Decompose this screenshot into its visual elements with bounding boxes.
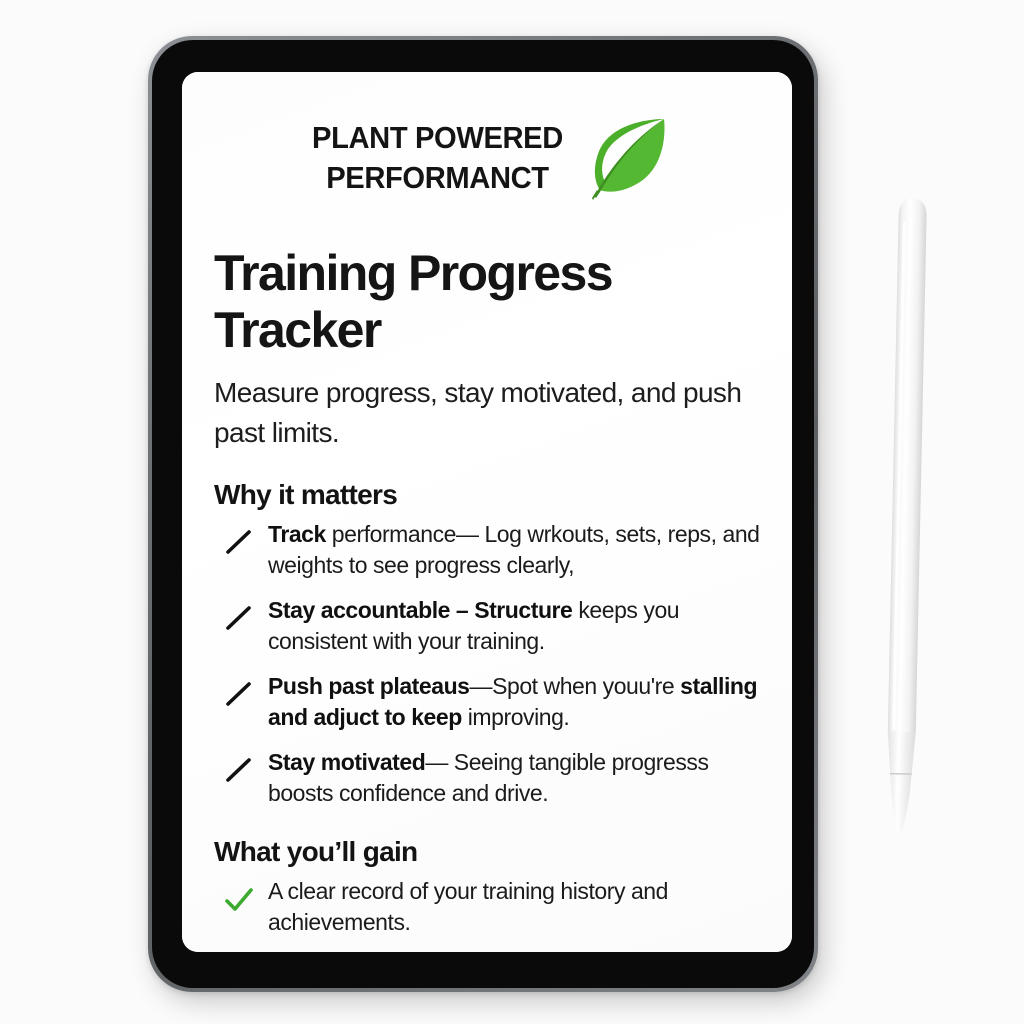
tablet-bezel: PLANT POWERED PERFORMANCT Training Progr…: [152, 40, 814, 988]
check-icon: [224, 885, 254, 915]
brand-title-line2: PERFORMANCT: [312, 158, 563, 198]
page-title: Training Progress Tracker: [214, 245, 762, 359]
page-subtitle: Measure progress, stay motivated, and pu…: [214, 373, 762, 453]
list-item-rest: performance— Log wrkouts, sets, reps, an…: [268, 521, 760, 579]
slash-stroke-icon: [224, 680, 254, 710]
list-item-rest: A clear record of your training history …: [268, 878, 668, 936]
list-item: Stay motivated— Seeing tangible progress…: [212, 747, 762, 810]
section-heading-why-it-matters: Why it matters: [214, 479, 762, 511]
brand-title-line1: PLANT POWERED: [312, 118, 563, 158]
list-item-lead: Track: [268, 521, 326, 547]
list-item-lead: Push past plateaus: [268, 673, 470, 699]
list-item-text: Stay accountable – Structure keeps you c…: [268, 595, 762, 658]
screen-content: PLANT POWERED PERFORMANCT Training Progr…: [182, 72, 792, 952]
tablet-device: PLANT POWERED PERFORMANCT Training Progr…: [148, 36, 818, 992]
what-youll-gain-list: A clear record of your training history …: [212, 876, 762, 939]
list-item-text: A clear record of your training history …: [268, 876, 762, 939]
why-it-matters-list: Track performance— Log wrkouts, sets, re…: [212, 519, 762, 810]
tablet-screen[interactable]: PLANT POWERED PERFORMANCT Training Progr…: [182, 72, 792, 952]
list-item-text: Track performance— Log wrkouts, sets, re…: [268, 519, 762, 582]
slash-stroke-icon: [224, 604, 254, 634]
brand-header: PLANT POWERED PERFORMANCT: [212, 106, 762, 209]
list-item-rest-tail: improving.: [462, 704, 570, 730]
slash-stroke-icon: [224, 756, 254, 786]
slash-stroke-icon: [224, 528, 254, 558]
stylus-pen: [878, 196, 934, 857]
list-item-lead: Stay accountable – Structure: [268, 597, 572, 623]
brand-title: PLANT POWERED PERFORMANCT: [312, 118, 563, 197]
leaf-icon: [584, 112, 670, 209]
list-item: Push past plateaus—Spot when youu're sta…: [212, 671, 762, 734]
list-item: Stay accountable – Structure keeps you c…: [212, 595, 762, 658]
list-item-rest: —Spot when youu're: [470, 673, 681, 699]
section-heading-what-youll-gain: What you’ll gain: [214, 836, 762, 868]
list-item: Track performance— Log wrkouts, sets, re…: [212, 519, 762, 582]
list-item-lead: Stay motivated: [268, 749, 425, 775]
list-item-text: Push past plateaus—Spot when youu're sta…: [268, 671, 762, 734]
list-item-text: Stay motivated— Seeing tangible progress…: [268, 747, 762, 810]
list-item: A clear record of your training history …: [212, 876, 762, 939]
